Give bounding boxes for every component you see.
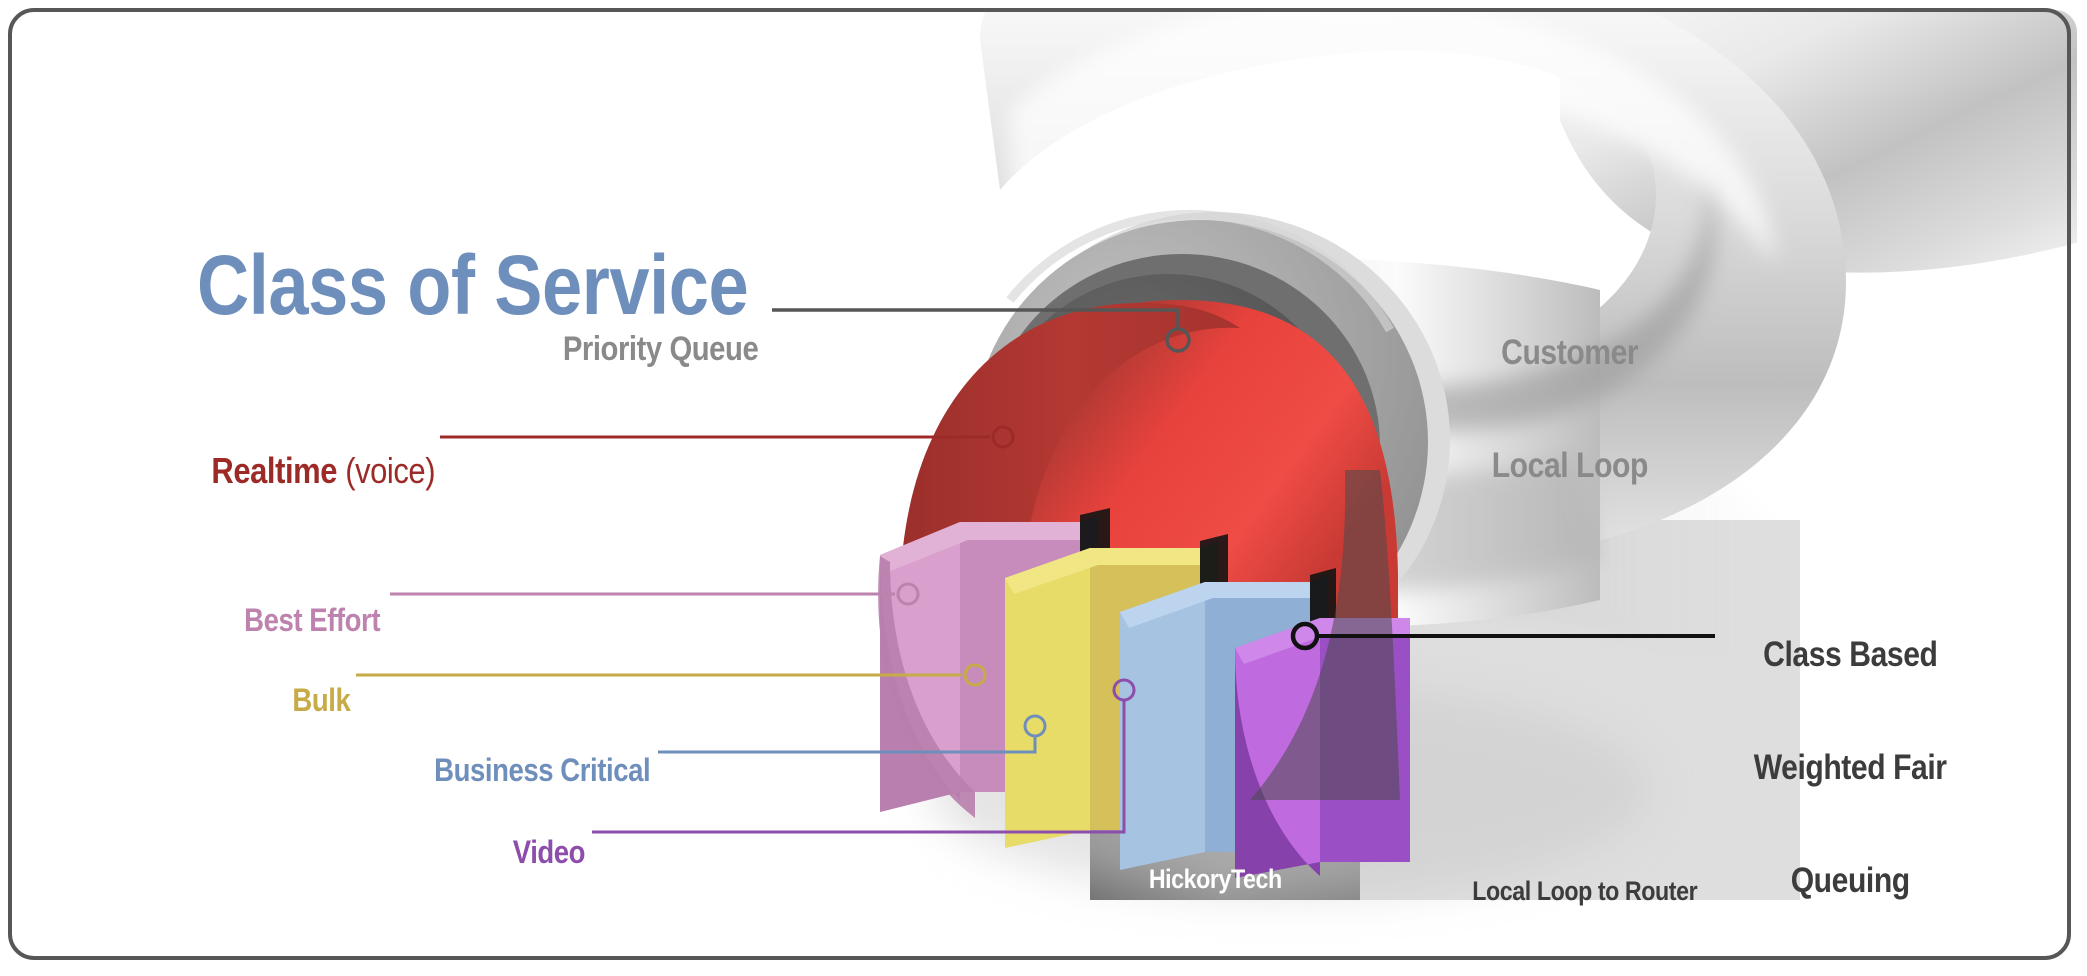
label-customer-local-loop: Customer Local Loop [1400, 258, 1740, 560]
label-customer-line1: Customer [1501, 334, 1638, 372]
label-hickorytech-line2: MLPS Network [1136, 954, 1293, 976]
label-video-text: Video [513, 834, 585, 871]
label-hickorytech-line1: HickoryTech [1149, 865, 1282, 895]
label-video: Video [0, 797, 585, 908]
label-cbwfq-line3: Queuing [1790, 862, 1909, 900]
page-title-text: Class of Service [197, 237, 748, 334]
label-business-critical-text: Business Critical [434, 752, 650, 789]
label-local-loop-to-router: Local Loop to Router [1410, 845, 1730, 938]
label-cbwfq-line2: Weighted Fair [1754, 749, 1947, 787]
label-hickorytech-network: HickoryTech MLPS Network [1085, 806, 1345, 976]
diagram-canvas: Class of Service Priority Queue Realtime… [0, 0, 2087, 976]
label-realtime-bold: Realtime [211, 450, 337, 491]
label-cbwfq: Class Based Weighted Fair Queuing [1700, 560, 2000, 976]
label-realtime-paren: (voice) [337, 450, 435, 491]
label-best-effort-text: Best Effort [244, 602, 380, 639]
label-local-loop-to-router-text: Local Loop to Router [1473, 876, 1698, 907]
label-cbwfq-line1: Class Based [1763, 636, 1937, 674]
label-customer-line2: Local Loop [1492, 447, 1648, 485]
page-title: Class of Service [104, 140, 838, 431]
label-bulk-text: Bulk [292, 682, 350, 719]
